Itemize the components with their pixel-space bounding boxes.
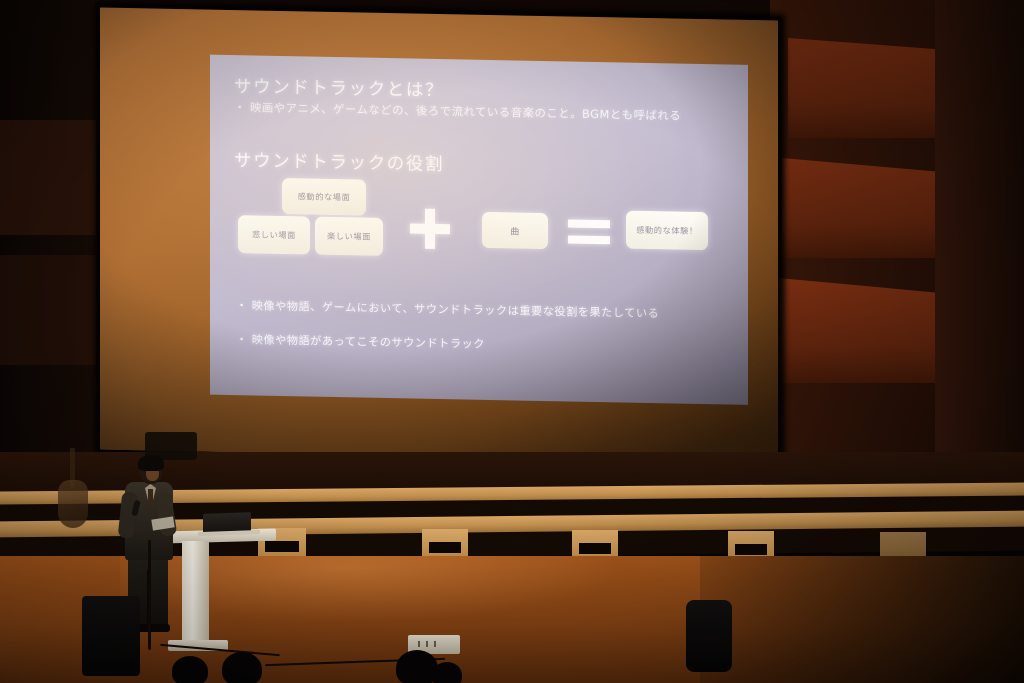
wall-panel-lower (778, 278, 938, 383)
auditorium-scene: サウンドトラックとは？ ・ 映画やアニメ、ゲームなどの、後ろで流れている音楽のこ… (0, 0, 1024, 683)
left-wall (0, 0, 100, 470)
audience-head-1 (172, 656, 208, 683)
floor-monitor-left (82, 596, 140, 676)
support-block-1-cutout (265, 541, 299, 552)
audience-head-2 (222, 652, 262, 683)
support-block-2-cutout (429, 542, 461, 553)
support-block-3-cutout (579, 543, 611, 554)
projection-screen: サウンドトラックとは？ ・ 映画やアニメ、ゲームなどの、後ろで流れている音楽のこ… (100, 7, 778, 462)
wall-panel-middle (782, 158, 942, 258)
screen-vignette (100, 7, 778, 462)
presenter-hair (138, 455, 164, 471)
control-knob-3 (434, 641, 436, 647)
podium-column (182, 541, 209, 646)
left-wall-band-lower (0, 255, 96, 365)
support-block-4-cutout (735, 544, 767, 555)
presenter-tie (148, 489, 153, 506)
control-knob-1 (418, 641, 420, 647)
stage-floor-shadow (700, 556, 1024, 683)
far-right-wall (935, 0, 1024, 470)
mic-cable (148, 540, 151, 650)
left-wall-band-upper (0, 120, 96, 235)
floor-monitor-right (686, 600, 732, 672)
audience-head-4 (432, 662, 462, 683)
control-knob-2 (426, 641, 428, 647)
bass-guitar-icon (58, 480, 88, 528)
wall-panel-upper (788, 38, 948, 138)
